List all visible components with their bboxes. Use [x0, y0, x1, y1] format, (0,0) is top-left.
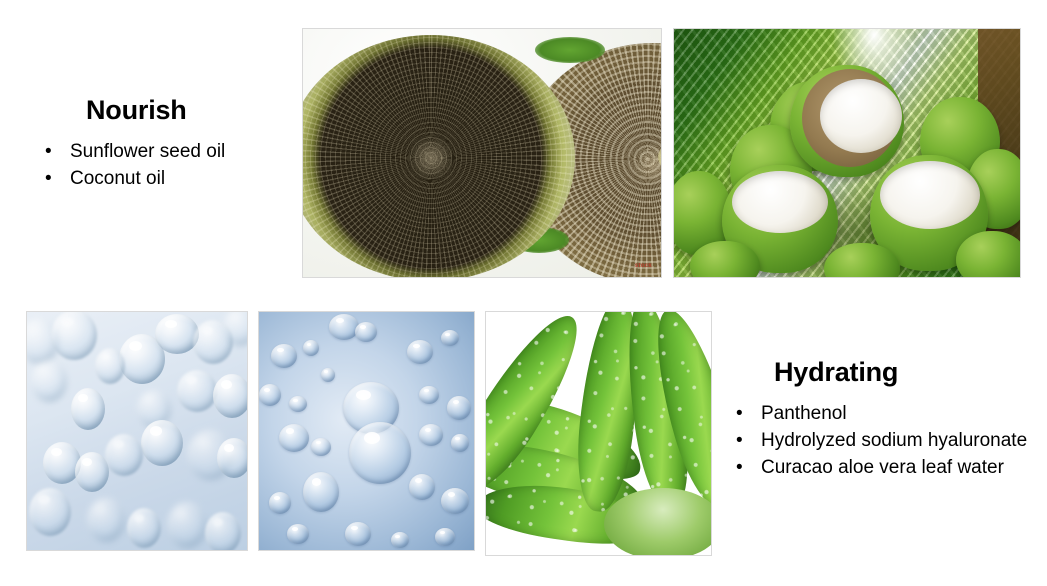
- water-droplet: [419, 386, 439, 404]
- water-droplet: [259, 384, 281, 406]
- water-droplet: [271, 344, 297, 368]
- bullet-dot-icon: •: [45, 166, 52, 192]
- water-droplet: [441, 488, 469, 514]
- hydrating-bullet-list: • Panthenol • Hydrolyzed sodium hyaluron…: [733, 401, 1033, 481]
- water-droplet: [447, 396, 471, 420]
- list-item: • Sunflower seed oil: [42, 139, 292, 165]
- water-droplet: [279, 424, 309, 452]
- water-droplet: [321, 368, 335, 382]
- coconut-flesh: [820, 79, 902, 153]
- bullet-dot-icon: •: [45, 139, 52, 165]
- bubble: [95, 348, 125, 384]
- list-item: • Panthenol: [733, 401, 1033, 427]
- water-droplet: [407, 340, 433, 364]
- list-item: • Hydrolyzed sodium hyaluronate: [733, 428, 1033, 454]
- slide-canvas: Nourish • Sunflower seed oil • Coconut o…: [0, 0, 1047, 586]
- bubble: [141, 420, 183, 466]
- list-item-label: Sunflower seed oil: [70, 141, 225, 162]
- bubble: [29, 488, 71, 536]
- water-droplet: [355, 322, 377, 342]
- aloe-vera-leaves-photo: [485, 311, 712, 556]
- bullet-dot-icon: •: [736, 455, 743, 481]
- bubble: [75, 452, 109, 492]
- bubble: [213, 374, 248, 418]
- water-droplet: [289, 396, 307, 412]
- bubble: [205, 512, 241, 551]
- list-item-label: Hydrolyzed sodium hyaluronate: [761, 430, 1027, 451]
- bullet-dot-icon: •: [736, 401, 743, 427]
- bullet-dot-icon: •: [736, 428, 743, 454]
- bubble: [105, 434, 143, 476]
- coconut-flesh: [880, 161, 980, 229]
- list-item-label: Coconut oil: [70, 168, 165, 189]
- sunflower-core: [409, 136, 453, 180]
- nourish-heading: Nourish: [86, 96, 292, 126]
- bubble: [155, 314, 199, 354]
- nourish-bullet-list: • Sunflower seed oil • Coconut oil: [42, 139, 292, 192]
- sunflower-head-left: [302, 35, 575, 278]
- bubble: [167, 502, 207, 548]
- water-droplets-photo: [258, 311, 475, 551]
- list-item-label: Panthenol: [761, 403, 847, 424]
- bubble: [87, 498, 125, 542]
- bubble: [177, 370, 217, 412]
- water-droplet: [391, 532, 409, 548]
- coconut-flesh: [732, 171, 828, 233]
- water-droplet: [419, 424, 443, 446]
- photo-watermark: stock: [635, 263, 652, 269]
- water-droplet: [345, 522, 371, 546]
- water-droplet: [303, 340, 319, 356]
- water-droplet: [269, 492, 291, 514]
- list-item-label: Curacao aloe vera leaf water: [761, 457, 1004, 478]
- water-droplet: [441, 330, 459, 346]
- bubble: [71, 388, 105, 430]
- bubble: [51, 311, 97, 360]
- water-bubbles-photo: [26, 311, 248, 551]
- bubble: [217, 438, 248, 478]
- bubble: [31, 360, 67, 402]
- green-coconuts-photo: [673, 28, 1021, 278]
- hydrating-heading: Hydrating: [774, 358, 1033, 388]
- nourish-text-block: Nourish • Sunflower seed oil • Coconut o…: [42, 96, 292, 193]
- water-droplet: [451, 434, 469, 452]
- list-item: • Coconut oil: [42, 166, 292, 192]
- water-droplet: [329, 314, 359, 340]
- list-item: • Curacao aloe vera leaf water: [733, 455, 1033, 481]
- water-droplet: [303, 472, 339, 512]
- water-droplet: [311, 438, 331, 456]
- coconut-whole: [956, 231, 1021, 278]
- water-droplet: [435, 528, 455, 546]
- water-droplet: [409, 474, 435, 500]
- aloe-plant-base: [604, 488, 712, 556]
- water-droplet: [287, 524, 309, 544]
- water-droplet: [349, 422, 411, 484]
- bubble: [127, 508, 161, 548]
- sunflower-bract-leaf: [535, 37, 605, 63]
- sunflower-seed-heads-photo: stock: [302, 28, 662, 278]
- hydrating-text-block: Hydrating • Panthenol • Hydrolyzed sodiu…: [733, 358, 1033, 482]
